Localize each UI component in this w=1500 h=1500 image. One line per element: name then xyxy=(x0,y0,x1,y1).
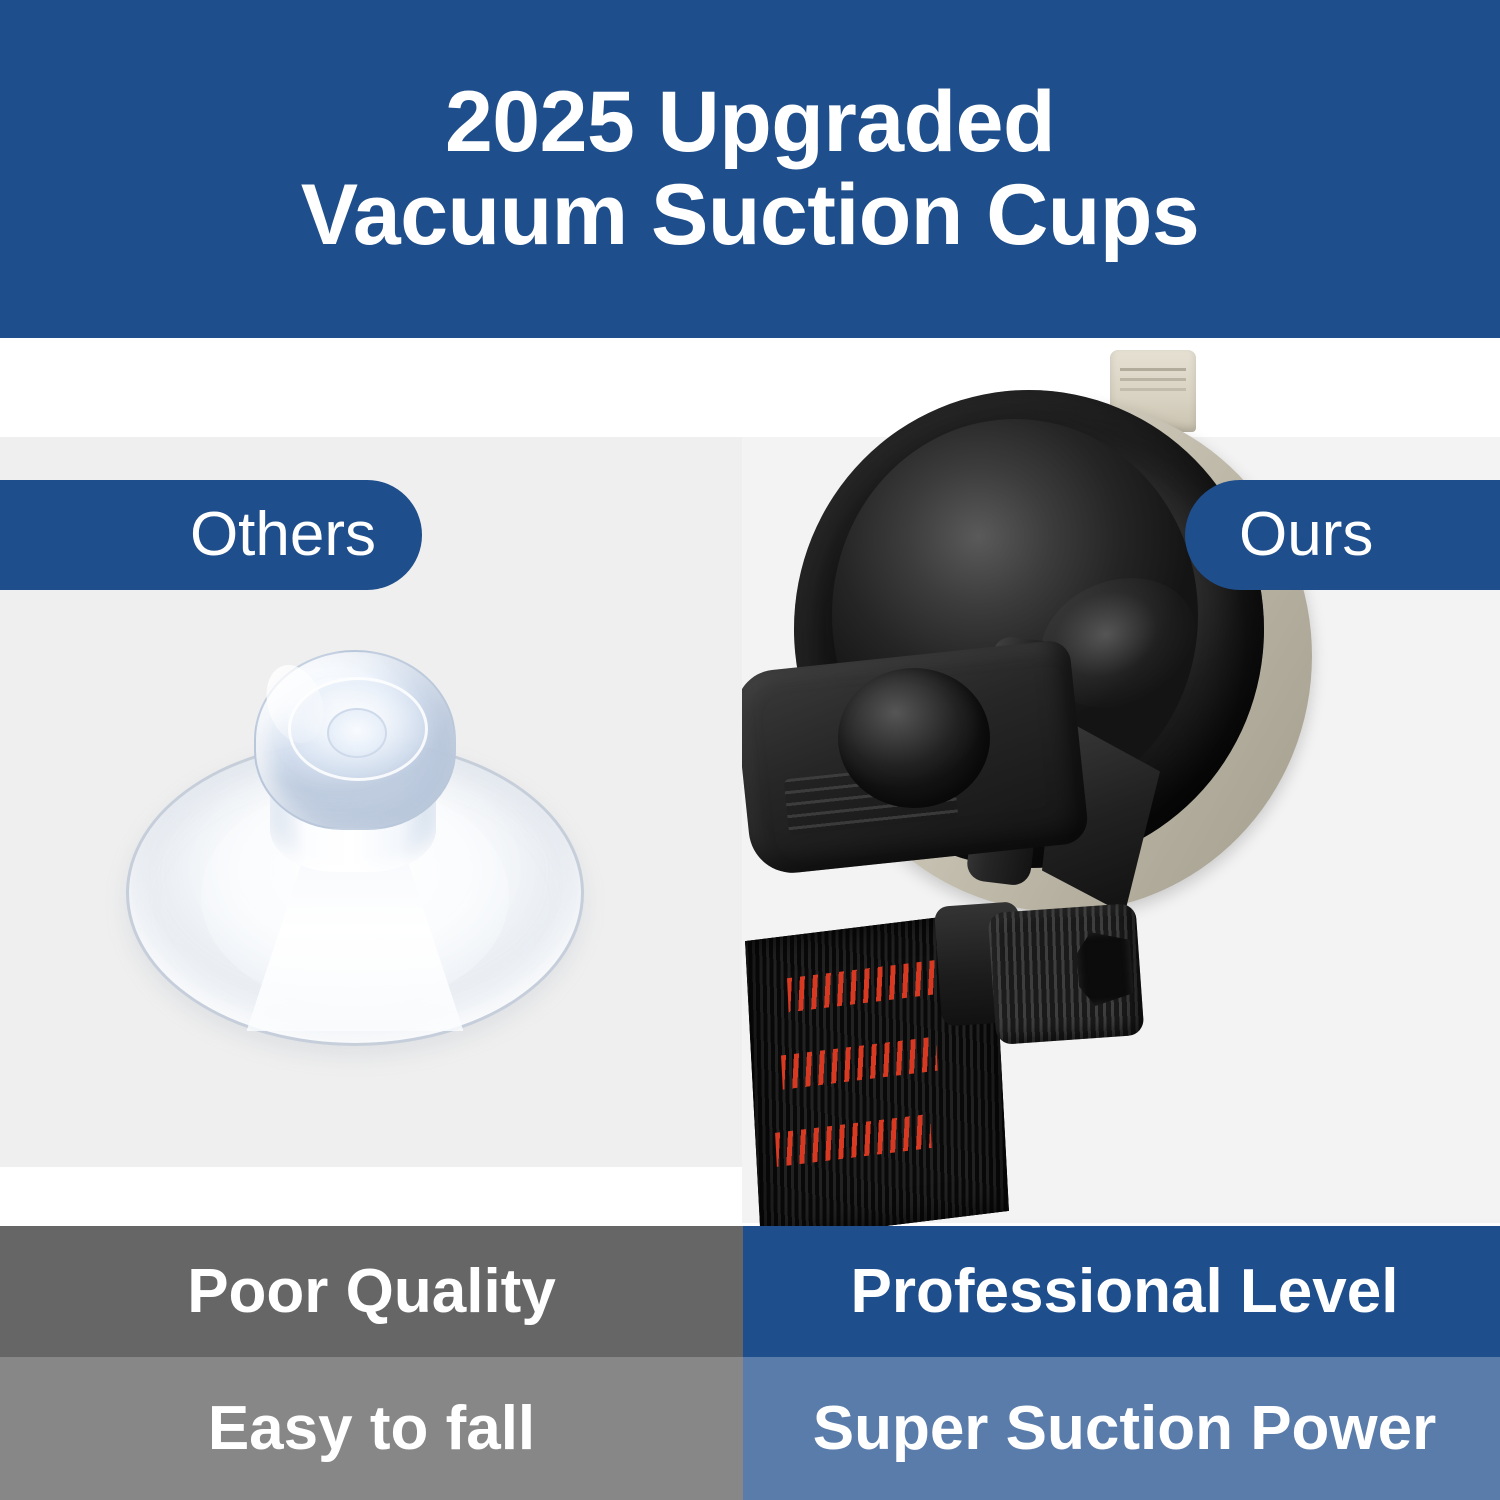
pivot-knob xyxy=(838,668,990,808)
clear-suction-cup-image xyxy=(118,642,588,1102)
black-suction-mount-image xyxy=(742,338,1500,1226)
comparison-claims-grid: Poor Quality Professional Level Easy to … xyxy=(0,1226,1500,1500)
header-title-line-1: 2025 Upgraded xyxy=(445,76,1055,169)
header-title-line-2: Vacuum Suction Cups xyxy=(301,169,1199,262)
knurled-thumbscrew xyxy=(988,903,1145,1045)
ours-photo-panel xyxy=(742,338,1500,1226)
red-zigzag-stitch-row-2 xyxy=(781,1037,938,1090)
red-zigzag-stitch-row-1 xyxy=(787,959,944,1012)
claim-text-easy-to-fall: Easy to fall xyxy=(0,1398,743,1460)
claim-cell-ours-row-1: Professional Level xyxy=(743,1226,1500,1357)
header-banner: 2025 Upgraded Vacuum Suction Cups xyxy=(0,0,1500,338)
clear-cup-bulb-hole xyxy=(327,708,386,758)
comparison-stage: Others Ours xyxy=(0,338,1500,1226)
claim-cell-ours-row-2: Super Suction Power xyxy=(743,1357,1500,1500)
claim-text-super-suction-power: Super Suction Power xyxy=(743,1398,1500,1460)
thumbscrew-hex-socket xyxy=(1075,929,1134,1007)
claim-text-professional-level: Professional Level xyxy=(743,1261,1500,1323)
ours-badge: Ours xyxy=(1185,480,1500,590)
claim-text-poor-quality: Poor Quality xyxy=(0,1261,743,1323)
others-badge-label: Others xyxy=(190,504,376,566)
red-zigzag-stitch-row-3 xyxy=(775,1114,932,1167)
others-badge: Others xyxy=(0,480,422,590)
claim-cell-others-row-1: Poor Quality xyxy=(0,1226,743,1357)
claim-cell-others-row-2: Easy to fall xyxy=(0,1357,743,1500)
pull-tab-embossed-text xyxy=(1120,368,1186,371)
product-comparison-infographic: 2025 Upgraded Vacuum Suction Cups xyxy=(0,0,1500,1500)
ours-badge-label: Ours xyxy=(1239,504,1373,566)
